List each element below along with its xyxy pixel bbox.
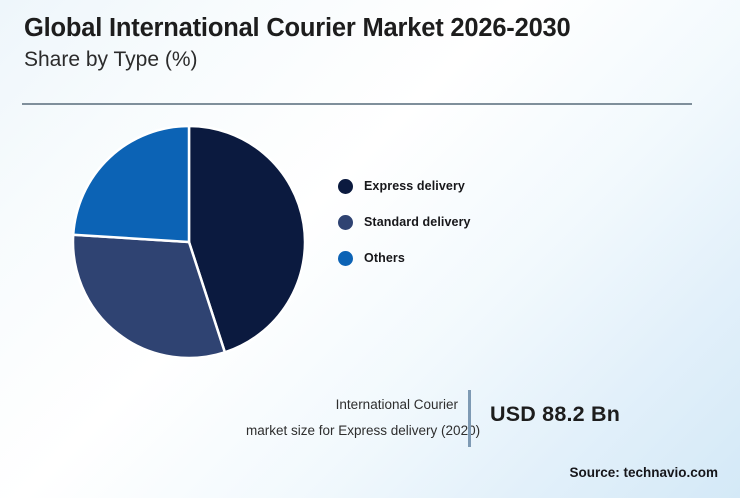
legend-label-others: Others [364,251,405,265]
callout-value: USD 88.2 Bn [490,402,620,427]
callout-description-line-1: International Courier [246,392,458,418]
source-attribution: Source: technavio.com [569,465,718,480]
pie-slice-others[interactable] [73,126,189,242]
market-size-callout: International Courier market size for Ex… [246,392,716,450]
legend-item-express[interactable]: Express delivery [338,168,568,204]
legend-swatch-standard-icon [338,215,353,230]
legend-swatch-express-icon [338,179,353,194]
infographic-canvas: Global International Courier Market 2026… [0,0,740,498]
callout-description: International Courier market size for Ex… [246,392,458,445]
legend-item-others[interactable]: Others [338,240,568,276]
title-block: Global International Courier Market 2026… [24,14,692,72]
legend-label-express: Express delivery [364,179,465,193]
chart-legend: Express delivery Standard delivery Other… [338,168,568,276]
legend-item-standard[interactable]: Standard delivery [338,204,568,240]
page-title: Global International Courier Market 2026… [24,14,614,44]
pie-chart [60,112,322,374]
pie-slice-group [73,126,305,358]
page-subtitle: Share by Type (%) [24,47,692,72]
legend-label-standard: Standard delivery [364,215,471,229]
legend-swatch-others-icon [338,251,353,266]
title-divider-rule [22,103,692,105]
callout-description-line-2: market size for Express delivery (2020) [246,418,458,444]
pie-chart-svg [60,112,322,374]
callout-vertical-divider [468,390,471,447]
